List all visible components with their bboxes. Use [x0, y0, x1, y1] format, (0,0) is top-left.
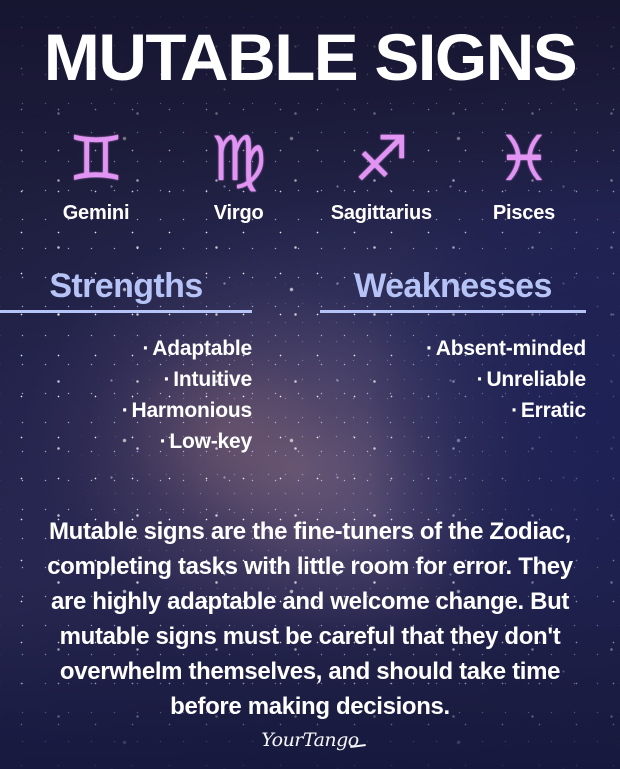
- bullet-icon: ·: [426, 333, 433, 364]
- list-item: ·Adaptable: [0, 333, 252, 364]
- list-item-label: Low-key: [169, 430, 252, 453]
- pisces-glyph-icon: ♓: [496, 122, 552, 196]
- list-item-label: Unreliable: [486, 368, 586, 391]
- weaknesses-column: Weaknesses ·Absent-minded ·Unreliable ·E…: [310, 268, 620, 457]
- list-item: ·Erratic: [320, 395, 586, 426]
- list-item: ·Unreliable: [320, 364, 586, 395]
- weaknesses-list: ·Absent-minded ·Unreliable ·Erratic: [320, 333, 586, 426]
- sign-gemini: ♊ Gemini: [26, 122, 166, 225]
- zodiac-poster: MUTABLE SIGNS ♊ Gemini ♍ Virgo ♐ Sagitta…: [0, 0, 620, 769]
- strengths-underline: [0, 310, 252, 313]
- sign-label-gemini: Gemini: [63, 202, 130, 225]
- page-title: MUTABLE SIGNS: [0, 24, 620, 90]
- sign-sagittarius: ♐ Sagittarius: [311, 122, 451, 225]
- list-item-label: Erratic: [521, 399, 586, 422]
- list-item-label: Intuitive: [173, 368, 252, 391]
- sign-label-pisces: Pisces: [493, 202, 555, 225]
- sign-label-virgo: Virgo: [214, 202, 264, 225]
- list-item-label: Absent-minded: [436, 337, 586, 360]
- poster-content: MUTABLE SIGNS ♊ Gemini ♍ Virgo ♐ Sagitta…: [0, 0, 620, 769]
- yourtango-logo: YourTango: [261, 729, 359, 751]
- gemini-glyph-icon: ♊: [68, 122, 124, 196]
- sign-pisces: ♓ Pisces: [454, 122, 594, 225]
- weaknesses-heading: Weaknesses: [320, 268, 586, 305]
- zodiac-signs-row: ♊ Gemini ♍ Virgo ♐ Sagittarius ♓ Pisces: [26, 122, 594, 225]
- strengths-heading: Strengths: [0, 268, 252, 305]
- list-item: ·Intuitive: [0, 364, 252, 395]
- strengths-column: Strengths ·Adaptable ·Intuitive ·Harmoni…: [0, 268, 310, 457]
- strengths-list: ·Adaptable ·Intuitive ·Harmonious ·Low-k…: [0, 333, 252, 457]
- sagittarius-glyph-icon: ♐: [354, 122, 410, 196]
- traits-columns: Strengths ·Adaptable ·Intuitive ·Harmoni…: [0, 268, 620, 457]
- weaknesses-underline: [320, 310, 586, 313]
- sign-virgo: ♍ Virgo: [169, 122, 309, 225]
- bullet-icon: ·: [477, 364, 484, 395]
- virgo-glyph-icon: ♍: [211, 122, 267, 196]
- bullet-icon: ·: [160, 426, 167, 457]
- list-item: ·Low-key: [0, 426, 252, 457]
- list-item: ·Absent-minded: [320, 333, 586, 364]
- list-item-label: Harmonious: [131, 399, 252, 422]
- footer-logo: YourTango: [0, 729, 620, 751]
- sign-label-sagittarius: Sagittarius: [331, 202, 432, 225]
- list-item: ·Harmonious: [0, 395, 252, 426]
- description-paragraph: Mutable signs are the fine-tuners of the…: [36, 514, 584, 724]
- bullet-icon: ·: [511, 395, 518, 426]
- list-item-label: Adaptable: [152, 337, 252, 360]
- bullet-icon: ·: [142, 333, 149, 364]
- bullet-icon: ·: [122, 395, 129, 426]
- bullet-icon: ·: [163, 364, 170, 395]
